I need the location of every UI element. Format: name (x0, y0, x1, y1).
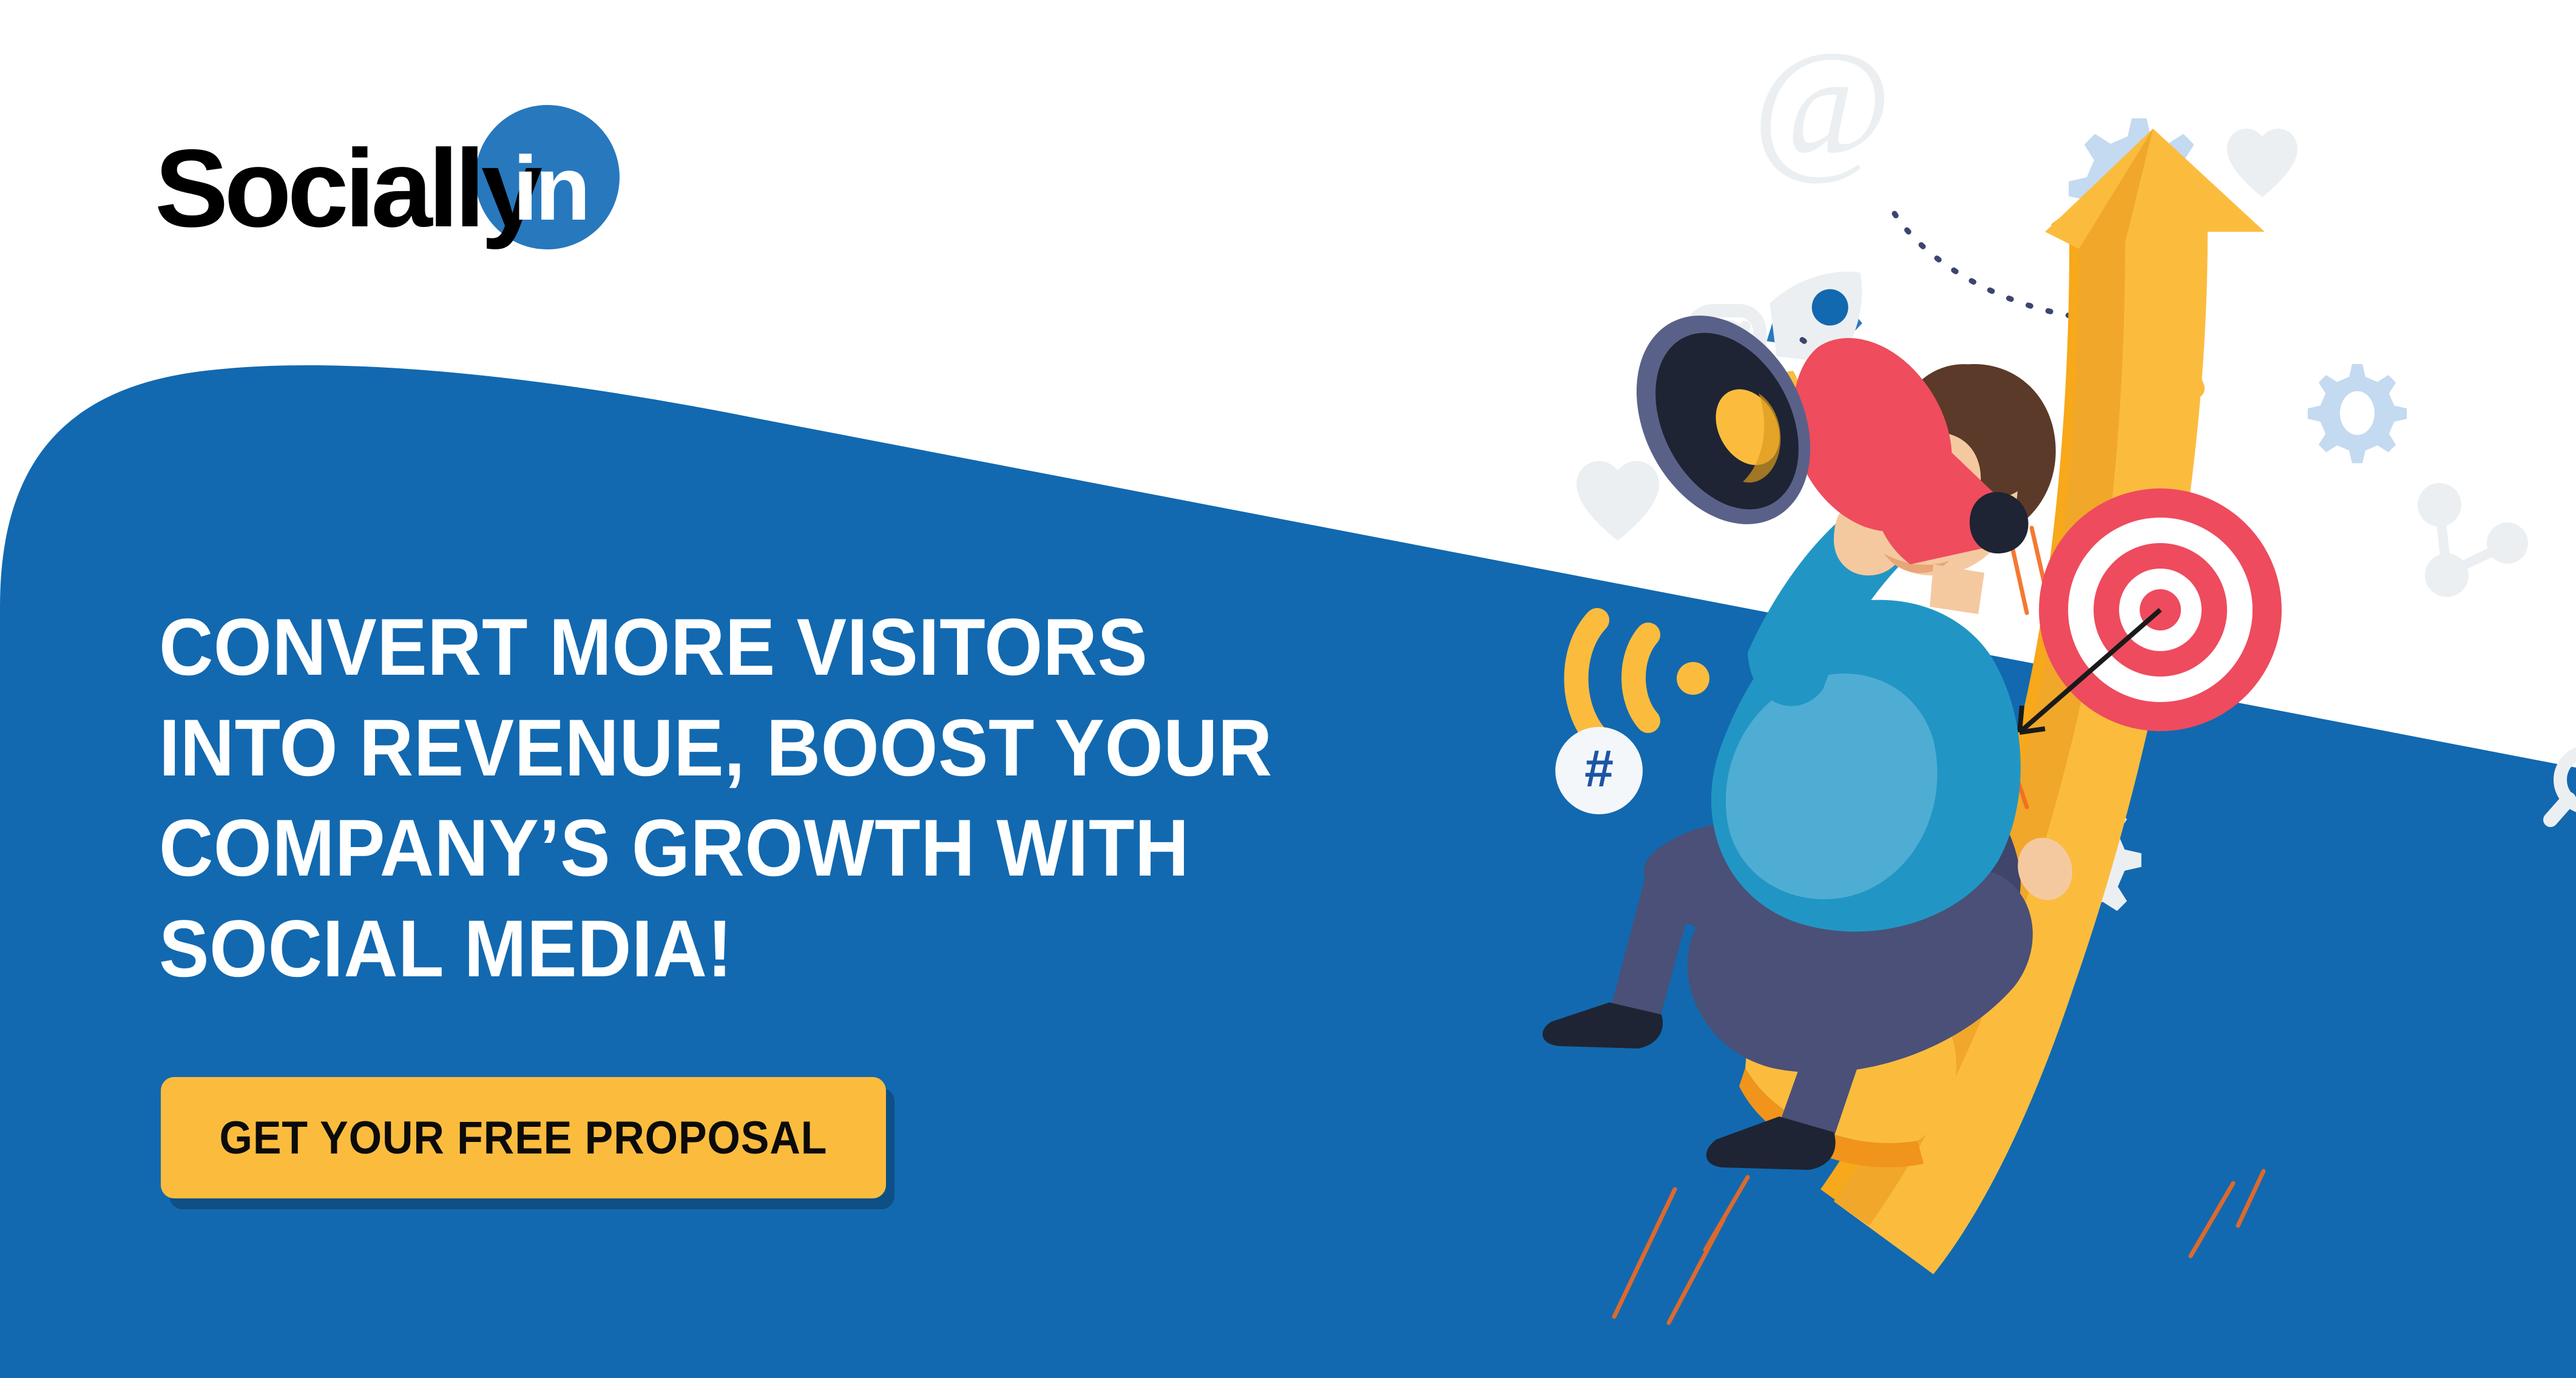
logo[interactable]: Socially in (155, 118, 701, 258)
at-symbol-icon: @ (1753, 20, 1892, 188)
svg-text:#: # (1584, 740, 1614, 798)
page-title: CONVERT MORE VISITORS INTO REVENUE, BOOS… (159, 598, 1403, 999)
wifi-waves-icon (1577, 620, 1649, 738)
headline-line-4: SOCIAL MEDIA! (159, 899, 1316, 1000)
logo-badge-text: in (513, 143, 587, 234)
person-neck (1930, 564, 1984, 614)
hashtag-icon: # (1555, 727, 1643, 814)
cta-container: GET YOUR FREE PROPOSAL (161, 1077, 886, 1198)
headline-line-3: COMPANY’S GROWTH WITH (159, 799, 1316, 899)
get-free-proposal-button[interactable]: GET YOUR FREE PROPOSAL (161, 1077, 886, 1198)
heart-icon (1577, 461, 1659, 541)
logo-wordmark: Socially (155, 133, 538, 243)
share-network-icon (2418, 483, 2528, 597)
heart-icon (2227, 129, 2297, 197)
cta-label: GET YOUR FREE PROPOSAL (220, 1112, 828, 1164)
hero-illustration: @ (1384, 0, 2576, 1378)
gear-icon (2308, 364, 2407, 463)
headline-line-1: CONVERT MORE VISITORS (159, 598, 1316, 698)
magnifier-icon (2551, 752, 2576, 820)
marketing-banner: Socially in CONVERT MORE VISITORS INTO R… (0, 0, 2576, 1378)
person-shin (1609, 862, 1699, 1025)
wifi-dot-icon (1677, 662, 1709, 695)
headline-line-2: INTO REVENUE, BOOST YOUR (159, 698, 1316, 799)
